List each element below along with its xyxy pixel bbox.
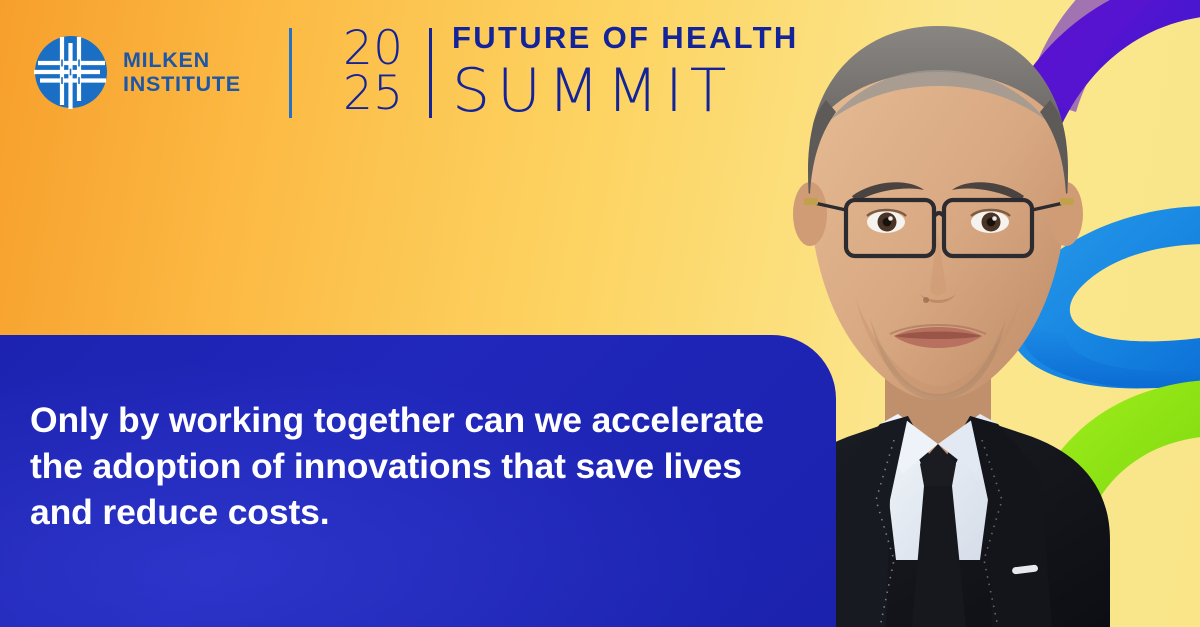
- event-year-top: 20: [343, 26, 403, 71]
- divider-left: [289, 28, 292, 118]
- event-title-line2: SUMMIT: [452, 61, 799, 121]
- event-title-line1: FUTURE OF HEALTH: [452, 22, 799, 53]
- divider-right: [429, 28, 432, 118]
- wordmark-line-milken: MILKEN: [123, 48, 241, 72]
- milken-institute-woven-grid-circle-icon: [32, 33, 110, 111]
- blue-ribbon-icon: [1009, 206, 1200, 388]
- wordmark-line-institute: INSTITUTE: [123, 72, 241, 96]
- brand-wordmark: MILKEN INSTITUTE: [123, 48, 241, 96]
- quote-panel: Only by working together can we accelera…: [0, 335, 836, 627]
- event-title: FUTURE OF HEALTH SUMMIT: [452, 22, 799, 121]
- green-ribbon-icon: [1028, 380, 1200, 538]
- eyeglasses-icon: [810, 200, 1068, 256]
- brand-lockup: MILKEN INSTITUTE: [32, 24, 241, 120]
- quote-text: Only by working together can we accelera…: [30, 398, 790, 535]
- event-year-bottom: 25: [343, 71, 403, 116]
- purple-ribbon-icon: [984, 0, 1200, 232]
- face: [793, 22, 1083, 400]
- event-year: 20 25: [343, 26, 403, 116]
- quote-card: MILKEN INSTITUTE 20 25 FUTURE OF HEALTH …: [0, 0, 1200, 627]
